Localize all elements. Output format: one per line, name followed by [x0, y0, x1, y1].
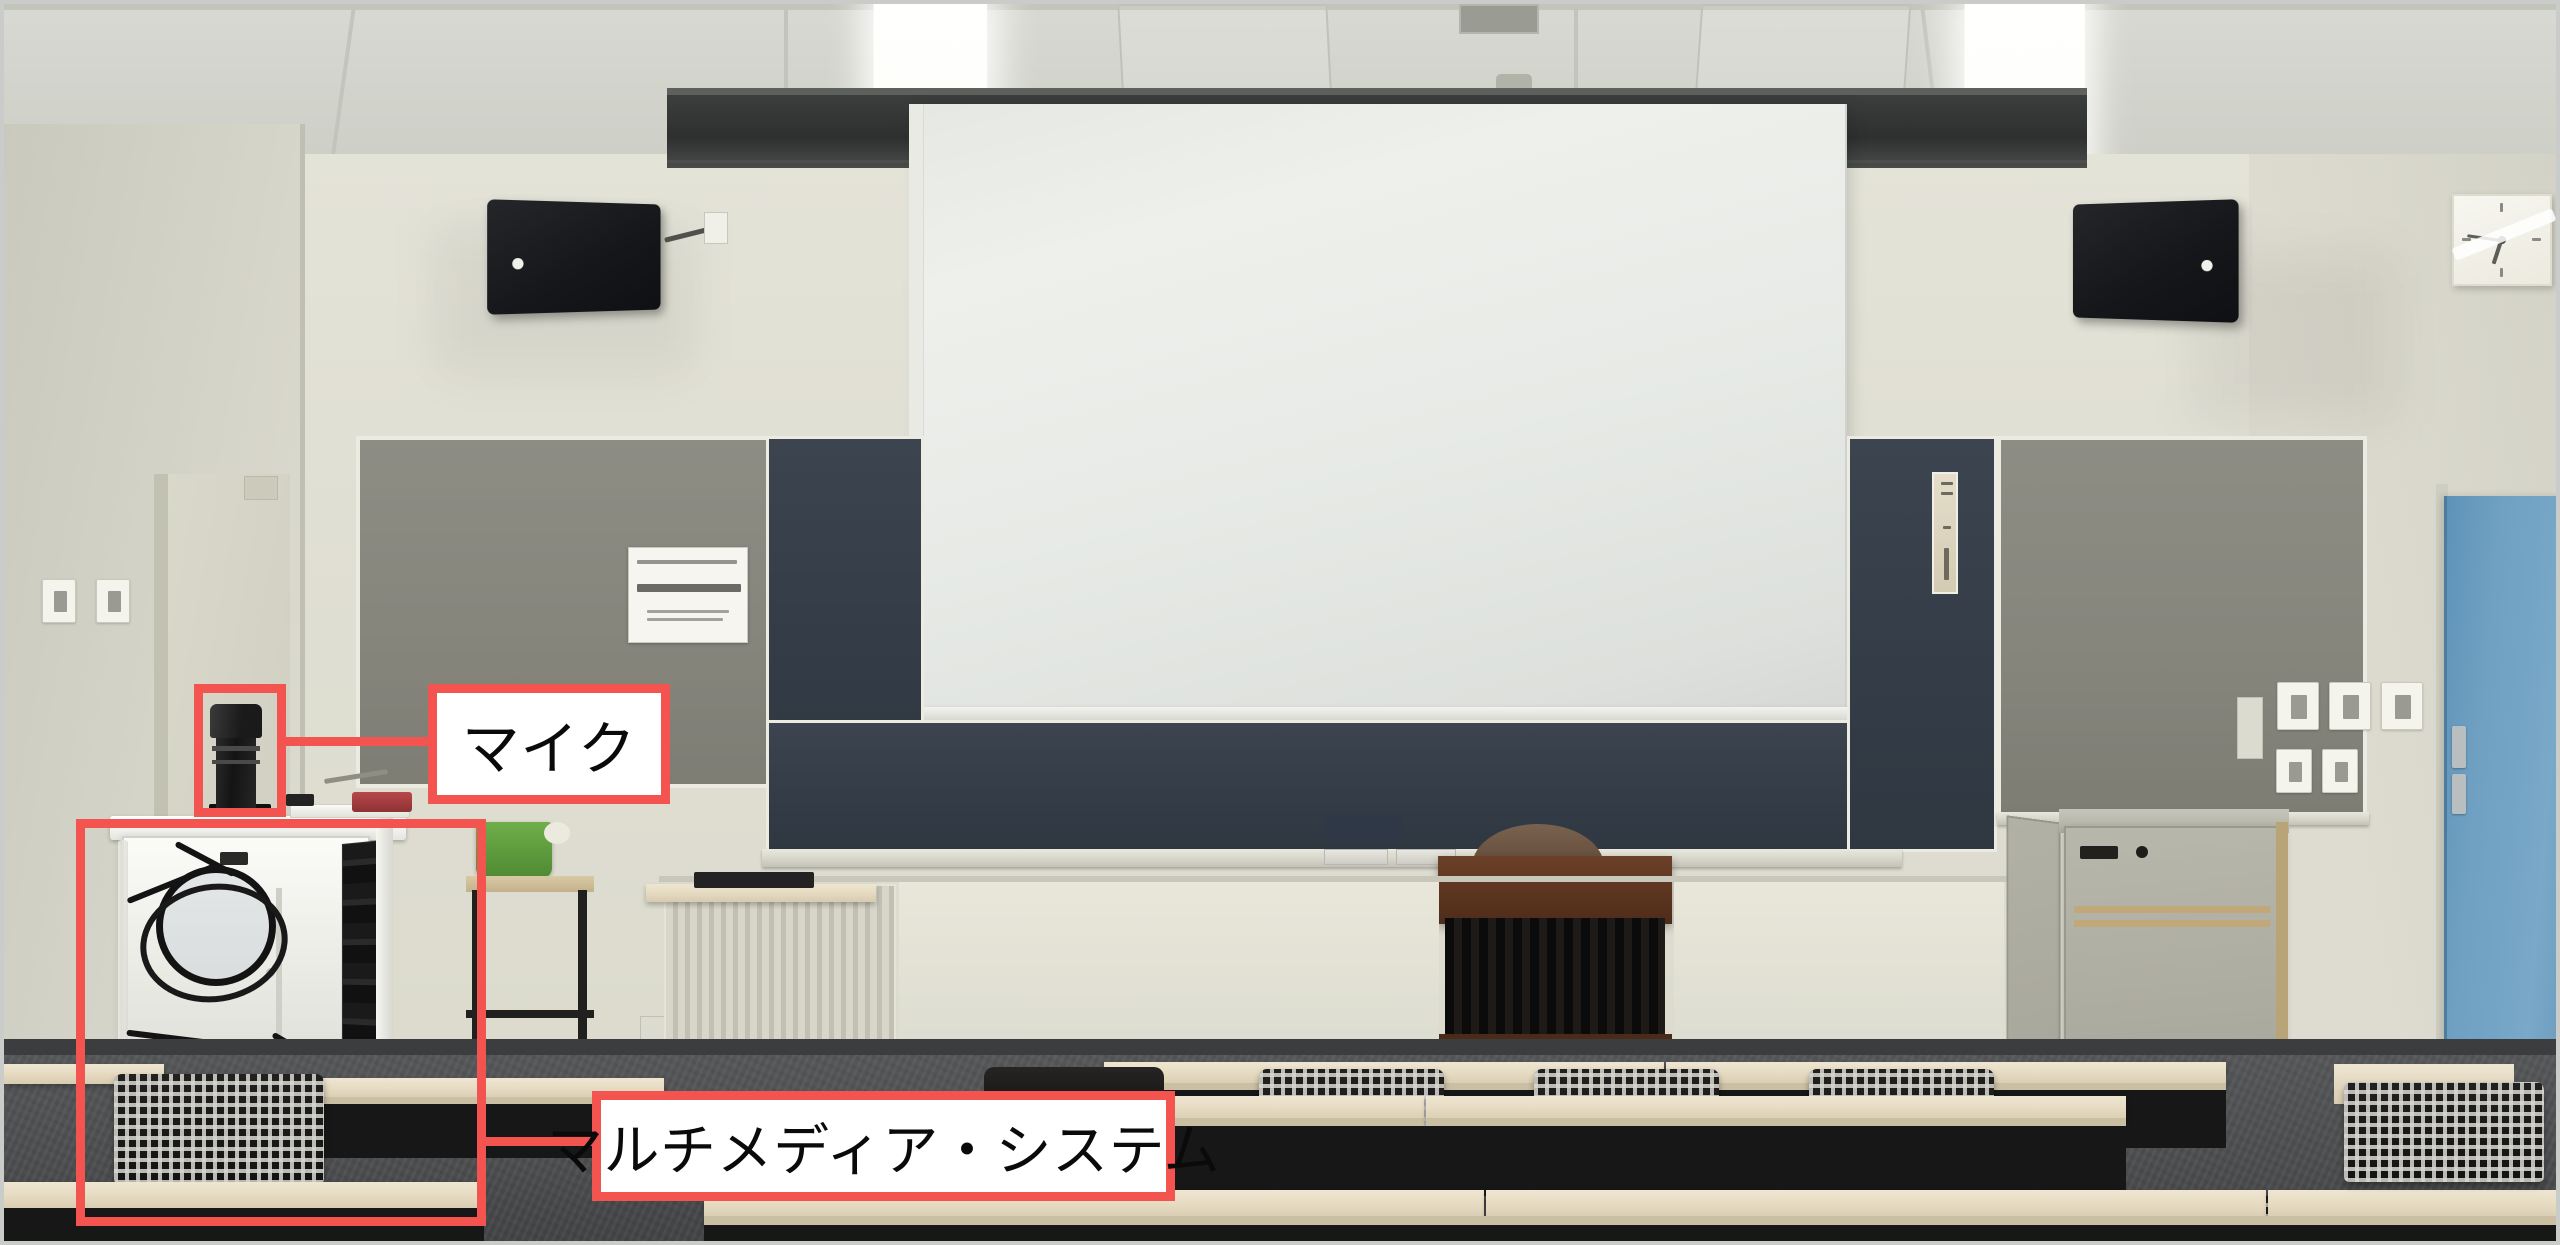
annotation-leader-microphone	[279, 737, 435, 746]
poster-line	[637, 560, 737, 564]
projection-screen	[922, 104, 1847, 714]
left-wall-switch[interactable]	[42, 579, 76, 623]
annotation-box-microphone	[194, 684, 286, 817]
outlet-box	[2237, 697, 2263, 759]
outlet-slot	[2289, 762, 2302, 782]
switch-rocker[interactable]	[2343, 695, 2359, 719]
speaker-led	[2201, 260, 2212, 271]
door-hinge	[2452, 774, 2466, 814]
sign-line	[1941, 482, 1953, 485]
cabinet-lock[interactable]	[2136, 846, 2148, 858]
green-bin	[476, 822, 552, 878]
light-switch-plate[interactable]	[2381, 682, 2423, 730]
chair[interactable]	[2344, 1082, 2544, 1182]
sign-line	[1943, 526, 1951, 529]
sign-line	[1941, 492, 1953, 495]
small-device	[286, 794, 314, 806]
wall-jack	[704, 212, 728, 244]
switch-rocker[interactable]	[54, 591, 67, 612]
lectern-slats	[1445, 918, 1665, 1036]
ceiling-vent	[1459, 4, 1539, 34]
annotated-classroom-photo: 電動スクリーン マイク マルチメディア・システム	[0, 0, 2560, 1245]
screen-housing-lip	[667, 88, 2087, 95]
sign-line	[1944, 548, 1949, 580]
notice-poster	[628, 547, 748, 643]
desk-device	[694, 872, 814, 888]
lectern-top	[1438, 856, 1672, 924]
radiator-panel	[664, 884, 896, 1044]
door-hinge	[2452, 726, 2466, 768]
clock-tick	[2532, 238, 2541, 241]
clock-tick	[2500, 268, 2503, 277]
wall-panel	[1674, 879, 2004, 1049]
white-item	[544, 822, 570, 844]
switch-rocker[interactable]	[2291, 695, 2307, 719]
wall-speaker-left	[487, 199, 660, 315]
annotation-box-multimedia-system	[76, 819, 486, 1226]
outlet-slot	[2335, 762, 2348, 782]
desk-understructure	[704, 1225, 2560, 1245]
chair-mesh	[2344, 1082, 2544, 1182]
wall-panel-top-edge	[659, 876, 2009, 882]
light-switch-plate[interactable]	[2329, 682, 2371, 730]
cabinet-stripe	[2074, 906, 2270, 913]
cabinet-handle[interactable]	[2080, 846, 2118, 859]
light-switch-plate[interactable]	[2277, 682, 2319, 730]
switch-rocker[interactable]	[2395, 695, 2411, 719]
wall-clock	[2452, 194, 2552, 286]
eraser	[1324, 849, 1388, 865]
cabinet-stripe	[2074, 920, 2270, 927]
left-wall-switch[interactable]	[96, 579, 130, 623]
vertical-room-sign	[1932, 472, 1958, 594]
clock-face	[2454, 196, 2550, 284]
poster-line	[647, 618, 723, 621]
outlet-plate[interactable]	[2322, 749, 2358, 793]
wall-speaker-right	[2073, 199, 2239, 323]
switch-rocker[interactable]	[108, 591, 121, 612]
poster-line	[647, 610, 729, 613]
wall-panel	[899, 879, 1439, 1049]
annotation-label-microphone: マイク	[428, 684, 670, 804]
annotation-label-multimedia-system: マルチメディア・システム	[592, 1091, 1175, 1201]
red-container	[352, 792, 412, 812]
blackboard-right-strip	[1847, 436, 1997, 852]
speaker-led	[512, 258, 523, 269]
board-marker-holder	[1324, 816, 1402, 840]
poster-line	[637, 584, 741, 592]
outlet-plate[interactable]	[2276, 749, 2312, 793]
clock-tick	[2500, 203, 2503, 212]
left-door-label	[244, 476, 278, 500]
